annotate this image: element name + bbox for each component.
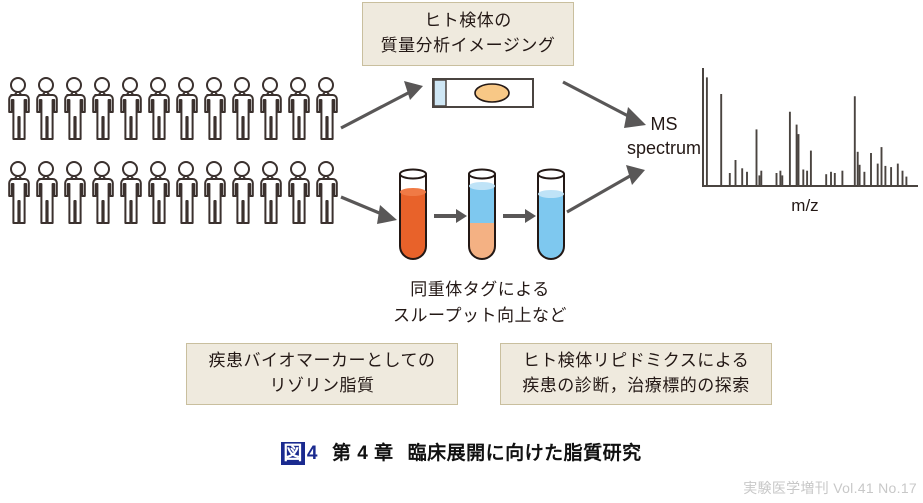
tube-2-meniscus	[469, 182, 495, 190]
people-group-bottom	[4, 160, 340, 226]
tube-1-meniscus	[400, 188, 426, 196]
person-icon	[200, 160, 228, 226]
arrow-tubes-to-spectrum	[567, 165, 645, 212]
person-icon-svg	[312, 76, 340, 142]
tube-1-rim	[400, 170, 426, 179]
tube-2	[468, 170, 496, 264]
sample-tubes-svg	[396, 168, 568, 268]
person-icon	[228, 160, 256, 226]
person-icon-svg	[88, 76, 116, 142]
person-icon-svg	[256, 76, 284, 142]
tissue-slide-svg	[432, 78, 534, 108]
figure-number: 4	[307, 443, 318, 464]
tube-3	[537, 170, 565, 265]
person-icon-svg	[172, 76, 200, 142]
person-icon	[60, 160, 88, 226]
figure-chapter: 第 4 章	[332, 443, 394, 464]
arrow-people-to-tubes	[341, 197, 397, 224]
person-icon	[228, 76, 256, 142]
caption-isobaric-tags: 同重体タグによる スループット向上など	[370, 277, 590, 328]
tube-1	[399, 170, 427, 263]
ms-spectrum-chart	[700, 62, 920, 194]
figure-tag: 図	[281, 442, 305, 465]
tube-2-rim	[469, 170, 495, 179]
person-icon-svg	[4, 76, 32, 142]
tube-arrow-1	[434, 209, 467, 223]
box-biomarker-line2: リゾリン脂質	[209, 374, 436, 399]
arrow-people-to-slide	[341, 81, 423, 128]
tissue-slide	[432, 78, 534, 108]
box-lipidomics-line2: 疾患の診断，治療標的の探索	[522, 374, 750, 399]
box-biomarker: 疾患バイオマーカーとしての リゾリン脂質	[186, 343, 458, 405]
box-lipidomics: ヒト検体リピドミクスによる 疾患の診断，治療標的の探索	[500, 343, 772, 405]
figure-caption: 図4第 4 章臨床展開に向けた脂質研究	[0, 438, 923, 465]
person-icon	[88, 160, 116, 226]
caption-tags-line2: スループット向上など	[370, 303, 590, 329]
person-icon-svg	[200, 160, 228, 226]
person-icon-svg	[60, 160, 88, 226]
ms-spectrum-label: MS spectrum	[614, 112, 714, 161]
sample-tubes-group	[396, 168, 568, 268]
person-icon	[88, 76, 116, 142]
person-icon	[144, 76, 172, 142]
person-icon-svg	[256, 160, 284, 226]
spectrum-svg	[700, 62, 920, 194]
person-icon	[4, 76, 32, 142]
tube-3-meniscus	[538, 190, 564, 198]
person-icon	[116, 76, 144, 142]
person-icon-svg	[32, 76, 60, 142]
person-icon	[60, 76, 88, 142]
person-icon	[172, 76, 200, 142]
mz-axis-label: m/z	[760, 196, 850, 216]
person-icon	[256, 160, 284, 226]
ms-label-line2: spectrum	[614, 136, 714, 160]
figure-page: ヒト検体の 質量分析イメージング	[0, 0, 923, 503]
person-icon-svg	[116, 76, 144, 142]
person-icon	[200, 76, 228, 142]
box-imaging: ヒト検体の 質量分析イメージング	[362, 2, 574, 66]
person-icon-svg	[4, 160, 32, 226]
person-icon	[312, 76, 340, 142]
person-icon-svg	[88, 160, 116, 226]
person-icon-svg	[60, 76, 88, 142]
caption-tags-line1: 同重体タグによる	[370, 277, 590, 303]
person-icon-svg	[228, 160, 256, 226]
people-group-top	[4, 76, 340, 142]
person-icon-svg	[144, 160, 172, 226]
ms-label-line1: MS	[614, 112, 714, 136]
person-icon	[284, 76, 312, 142]
person-icon	[4, 160, 32, 226]
person-icon	[32, 160, 60, 226]
person-icon	[284, 160, 312, 226]
tube-arrow-2	[503, 209, 536, 223]
box-biomarker-line1: 疾患バイオマーカーとしての	[209, 349, 436, 374]
person-icon-svg	[144, 76, 172, 142]
person-icon-svg	[228, 76, 256, 142]
figure-title: 臨床展開に向けた脂質研究	[408, 443, 642, 464]
tissue-section-spot	[475, 84, 509, 102]
person-icon	[116, 160, 144, 226]
person-icon-svg	[284, 76, 312, 142]
person-icon-svg	[116, 160, 144, 226]
person-icon-svg	[312, 160, 340, 226]
person-icon-svg	[284, 160, 312, 226]
person-icon	[172, 160, 200, 226]
person-icon	[144, 160, 172, 226]
slide-label-strip	[434, 80, 446, 106]
box-lipidomics-line1: ヒト検体リピドミクスによる	[522, 349, 750, 374]
person-icon-svg	[32, 160, 60, 226]
person-icon	[312, 160, 340, 226]
tube-1-fill-orange	[399, 192, 427, 262]
tube-2-fill-upper-blue	[468, 186, 496, 223]
person-icon-svg	[172, 160, 200, 226]
person-icon	[256, 76, 284, 142]
tube-2-fill-lower-orange	[468, 223, 496, 263]
person-icon-svg	[200, 76, 228, 142]
box-imaging-line1: ヒト検体の	[381, 9, 556, 34]
tube-3-rim	[538, 170, 564, 179]
page-footer: 実験医学増刊 Vol.41 No.17	[743, 478, 917, 498]
person-icon	[32, 76, 60, 142]
box-imaging-line2: 質量分析イメージング	[381, 34, 556, 59]
